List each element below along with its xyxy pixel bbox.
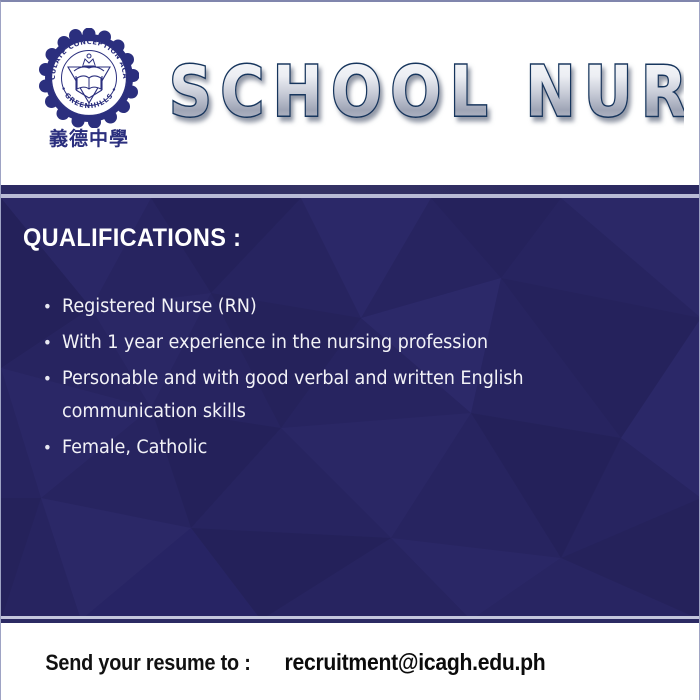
- qualifications-panel: QUALIFICATIONS : Registered Nurse (RN) W…: [1, 198, 700, 620]
- list-item: Female, Catholic: [41, 431, 633, 464]
- poster-title-art: SCHOOL NURSE: [169, 56, 684, 132]
- poster-title-text: SCHOOL NURSE: [169, 56, 684, 132]
- qualifications-content: QUALIFICATIONS : Registered Nurse (RN) W…: [1, 198, 700, 620]
- job-posting-poster: IMMACULATE CONCEPTION ACADEMY • GREENHIL…: [0, 0, 700, 700]
- list-item: Personable and with good verbal and writ…: [41, 362, 633, 428]
- footer-label: Send your resume to :: [45, 650, 250, 676]
- qualifications-heading: QUALIFICATIONS :: [23, 224, 241, 253]
- list-item: With 1 year experience in the nursing pr…: [41, 326, 633, 359]
- poster-footer: Send your resume to : recruitment@icagh.…: [1, 623, 700, 700]
- header-divider-band: [1, 185, 700, 194]
- poster-header: IMMACULATE CONCEPTION ACADEMY • GREENHIL…: [1, 2, 700, 185]
- footer-email-address[interactable]: recruitment@icagh.edu.ph: [285, 649, 546, 676]
- list-item: Registered Nurse (RN): [41, 290, 633, 323]
- school-chinese-name: 義德中學: [49, 130, 129, 149]
- footer-contact-line: Send your resume to : recruitment@icagh.…: [34, 649, 560, 676]
- poster-title: SCHOOL NURSE: [169, 56, 684, 132]
- school-seal-icon: IMMACULATE CONCEPTION ACADEMY • GREENHIL…: [39, 28, 139, 128]
- school-logo: IMMACULATE CONCEPTION ACADEMY • GREENHIL…: [33, 28, 145, 168]
- qualifications-list: Registered Nurse (RN) With 1 year experi…: [41, 290, 661, 467]
